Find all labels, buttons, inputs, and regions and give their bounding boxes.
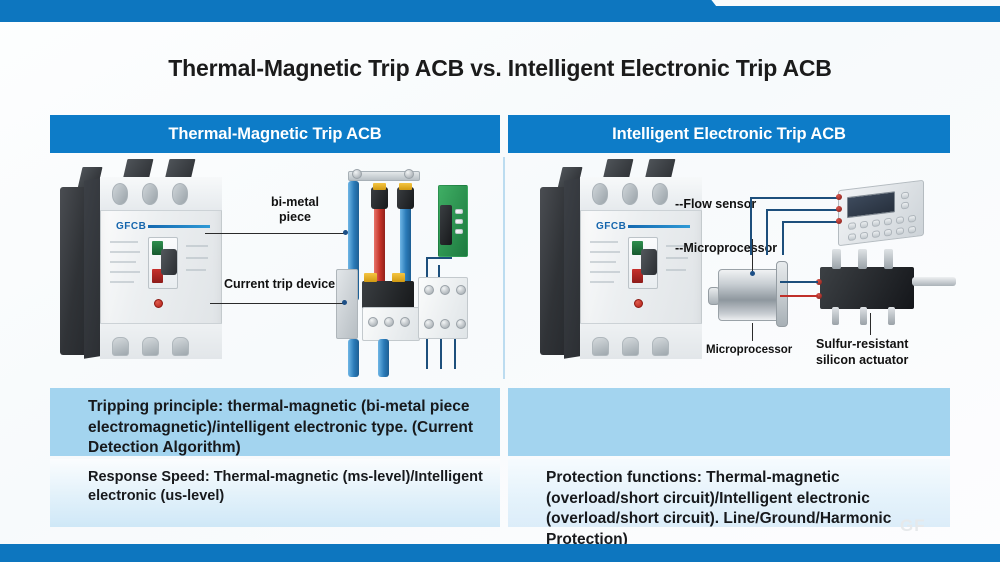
breaker-left-spec-line-3: [186, 269, 206, 271]
breaker-left-trip-reset-button: [154, 299, 163, 308]
callout-actuator-line2: silicon actuator: [816, 353, 908, 369]
leader-dot-bi-metal: [343, 230, 348, 235]
breaker-left-rating-line-2: [110, 251, 140, 253]
trip-mechanism-assembly: [326, 157, 496, 377]
actuator-stem-top-2: [858, 249, 867, 269]
page-title: Thermal-Magnetic Trip ACB vs. Intelligen…: [0, 55, 1000, 82]
terminal-lug-r-top-1: [592, 183, 608, 205]
callout-flow-sensor: --Flow sensor: [675, 197, 756, 212]
hmi-key-3: [872, 219, 880, 227]
hmi-display-module: [838, 180, 924, 247]
microprocessor-leader-down: [752, 323, 753, 341]
column-header-right-label: Intelligent Electronic Trip ACB: [612, 125, 846, 144]
actuator-stem-top-3: [884, 249, 893, 269]
hmi-port-3: [836, 218, 842, 224]
hmi-wire-3: [782, 221, 840, 223]
connector-collar-2: [399, 183, 412, 190]
hmi-key-6: [908, 215, 916, 223]
contactor-terminal-5: [440, 319, 450, 329]
comparison-row-2-right-cell: Protection functions: Thermal-magnetic (…: [508, 459, 950, 527]
out-wire-2: [440, 339, 442, 369]
callout-microprocessor-bottom: Microprocessor: [706, 343, 792, 357]
watermark: GF: [900, 516, 926, 536]
actuator-wire-red: [780, 295, 818, 297]
hmi-key-4: [884, 218, 892, 226]
column-header-left: Thermal-Magnetic Trip ACB: [50, 115, 500, 153]
hmi-key-9: [872, 230, 880, 238]
top-bar-left-segment: [0, 0, 700, 22]
callout-actuator-line1: Sulfur-resistant: [816, 337, 908, 353]
microprocessor-leader-dot: [750, 271, 755, 276]
comparison-row-2-left-cell: Response Speed: Thermal-magnetic (ms-lev…: [50, 459, 500, 527]
actuator-stem-bottom-3: [888, 307, 895, 325]
terminal-lug-bottom-2: [142, 337, 159, 356]
actuator-leader-line: [870, 313, 871, 335]
breaker-right-rating-line-5: [590, 281, 614, 283]
hmi-wire-2-riser: [766, 209, 768, 255]
trip-unit-terminal-1: [364, 273, 377, 282]
terminal-lug-r-top-2: [622, 183, 638, 205]
hmi-key-5: [896, 216, 904, 224]
breaker-left-illustration: GFCB: [60, 165, 228, 365]
contactor-terminal-1: [424, 285, 434, 295]
contactor-terminal-3: [456, 285, 466, 295]
hmi-key-12: [908, 226, 916, 234]
breaker-right-illustration: GFCB: [540, 165, 708, 365]
connector-collar-1: [373, 183, 386, 190]
actuator-stem-top-1: [832, 249, 841, 269]
green-module-key-3: [455, 229, 463, 234]
cable-blue-out-2: [378, 339, 389, 377]
breaker-right-operating-handle: [641, 249, 657, 275]
column-header-left-label: Thermal-Magnetic Trip ACB: [168, 125, 381, 144]
bottom-decoration-bar: [0, 544, 1000, 562]
callout-sulfur-resistant-actuator: Sulfur-resistant silicon actuator: [816, 337, 908, 368]
hmi-key-2: [860, 221, 868, 229]
diagram-stage: GFCB: [50, 157, 950, 379]
leader-dot-current-trip: [342, 300, 347, 305]
terminal-lug-r-top-3: [652, 183, 668, 205]
breaker-left-rating-line-5: [110, 281, 134, 283]
terminal-lug-top-3: [172, 183, 188, 205]
terminal-lug-top-1: [112, 183, 128, 205]
terminal-lug-r-bottom-3: [652, 337, 669, 356]
trip-unit-black-body: [362, 281, 414, 309]
hmi-key-10: [884, 229, 892, 237]
cable-connector-2: [397, 187, 414, 209]
terminal-lug-bottom-3: [172, 337, 189, 356]
actuator-wire-blue: [780, 281, 818, 283]
cable-blue-out-1: [348, 339, 359, 377]
comparison-row-1-right-cell: [508, 388, 950, 456]
contactor-terminal-6: [456, 319, 466, 329]
breaker-right-brand-text: GFCB: [596, 221, 626, 232]
terminal-lug-r-bottom-1: [592, 337, 609, 356]
column-header-right: Intelligent Electronic Trip ACB: [508, 115, 950, 153]
base-terminal-1: [368, 317, 378, 327]
cable-connector-1: [371, 187, 388, 209]
hmi-port-1: [836, 194, 842, 200]
hmi-screen: [847, 191, 895, 218]
breaker-left-rating-line-3: [110, 261, 136, 263]
slide-canvas: Thermal-Magnetic Trip ACB vs. Intelligen…: [0, 0, 1000, 562]
microprocessor-body: [718, 269, 780, 321]
callout-bi-metal-piece: bi-metal piece: [245, 195, 345, 226]
hmi-wire-1: [750, 197, 840, 199]
hmi-wire-3-riser: [782, 221, 784, 255]
top-decoration-bar: [0, 0, 1000, 24]
breaker-right-rating-line-3: [590, 261, 616, 263]
breaker-right-spec-line-2: [666, 257, 688, 259]
actuator-output-rod: [912, 277, 956, 286]
breaker-left-brand-text: GFCB: [116, 221, 146, 232]
base-terminal-2: [384, 317, 394, 327]
breaker-left-rating-line-4: [110, 271, 140, 273]
breaker-right-rating-line-2: [590, 251, 620, 253]
green-module-key-1: [455, 209, 463, 214]
green-module-window: [440, 205, 452, 245]
hmi-key-7: [848, 233, 856, 241]
callout-bi-metal-piece-line2: piece: [245, 210, 345, 225]
hmi-key-1: [848, 222, 856, 230]
out-wire-3: [454, 339, 456, 369]
hmi-key-11: [896, 227, 904, 235]
rail-screw-2: [404, 169, 414, 179]
module-wire-1: [426, 257, 428, 279]
base-terminal-3: [400, 317, 410, 327]
hmi-wire-2: [766, 209, 840, 211]
breaker-left-spec-line-1: [186, 245, 208, 247]
hmi-port-2: [836, 206, 842, 212]
breaker-right-trip-reset-button: [634, 299, 643, 308]
microprocessor-flange: [776, 261, 788, 327]
callout-bi-metal-piece-line1: bi-metal: [245, 195, 345, 210]
hmi-key-8: [860, 232, 868, 240]
microprocessor-leader-up: [752, 239, 753, 271]
terminal-lug-r-bottom-2: [622, 337, 639, 356]
actuator-stem-bottom-2: [860, 307, 867, 325]
comparison-row-1-left-cell: Tripping principle: thermal-magnetic (bi…: [50, 388, 500, 456]
breaker-right-spec-line-3: [666, 269, 686, 271]
actuator-stem-bottom-1: [832, 307, 839, 325]
contactor-terminal-4: [424, 319, 434, 329]
breaker-right-brand-underline: [628, 225, 690, 228]
trip-unit-terminal-2: [392, 273, 405, 282]
breaker-left-brand-underline: [148, 225, 210, 228]
breaker-left-operating-handle: [161, 249, 177, 275]
breaker-right-rating-line-4: [590, 271, 620, 273]
breaker-right-rating-line-1: [590, 241, 618, 243]
module-wire-2: [426, 257, 452, 259]
silicon-actuator-body: [820, 267, 914, 309]
terminal-lug-top-2: [142, 183, 158, 205]
breaker-left-spec-line-2: [186, 257, 208, 259]
terminal-lug-bottom-1: [112, 337, 129, 356]
hmi-nav-key-up: [901, 192, 909, 200]
callout-current-trip-device: Current trip device: [224, 277, 335, 292]
contactor-terminal-2: [440, 285, 450, 295]
leader-line-current-trip: [210, 303, 346, 304]
top-bar-right-segment: [715, 6, 1000, 22]
rail-screw-1: [352, 169, 362, 179]
hmi-nav-key-down: [901, 202, 909, 210]
callout-microprocessor-top: --Microprocessor: [675, 241, 777, 256]
leader-line-bi-metal: [205, 233, 347, 234]
breaker-left-rating-line-1: [110, 241, 138, 243]
out-wire-1: [426, 339, 428, 369]
green-module-key-2: [455, 219, 463, 224]
